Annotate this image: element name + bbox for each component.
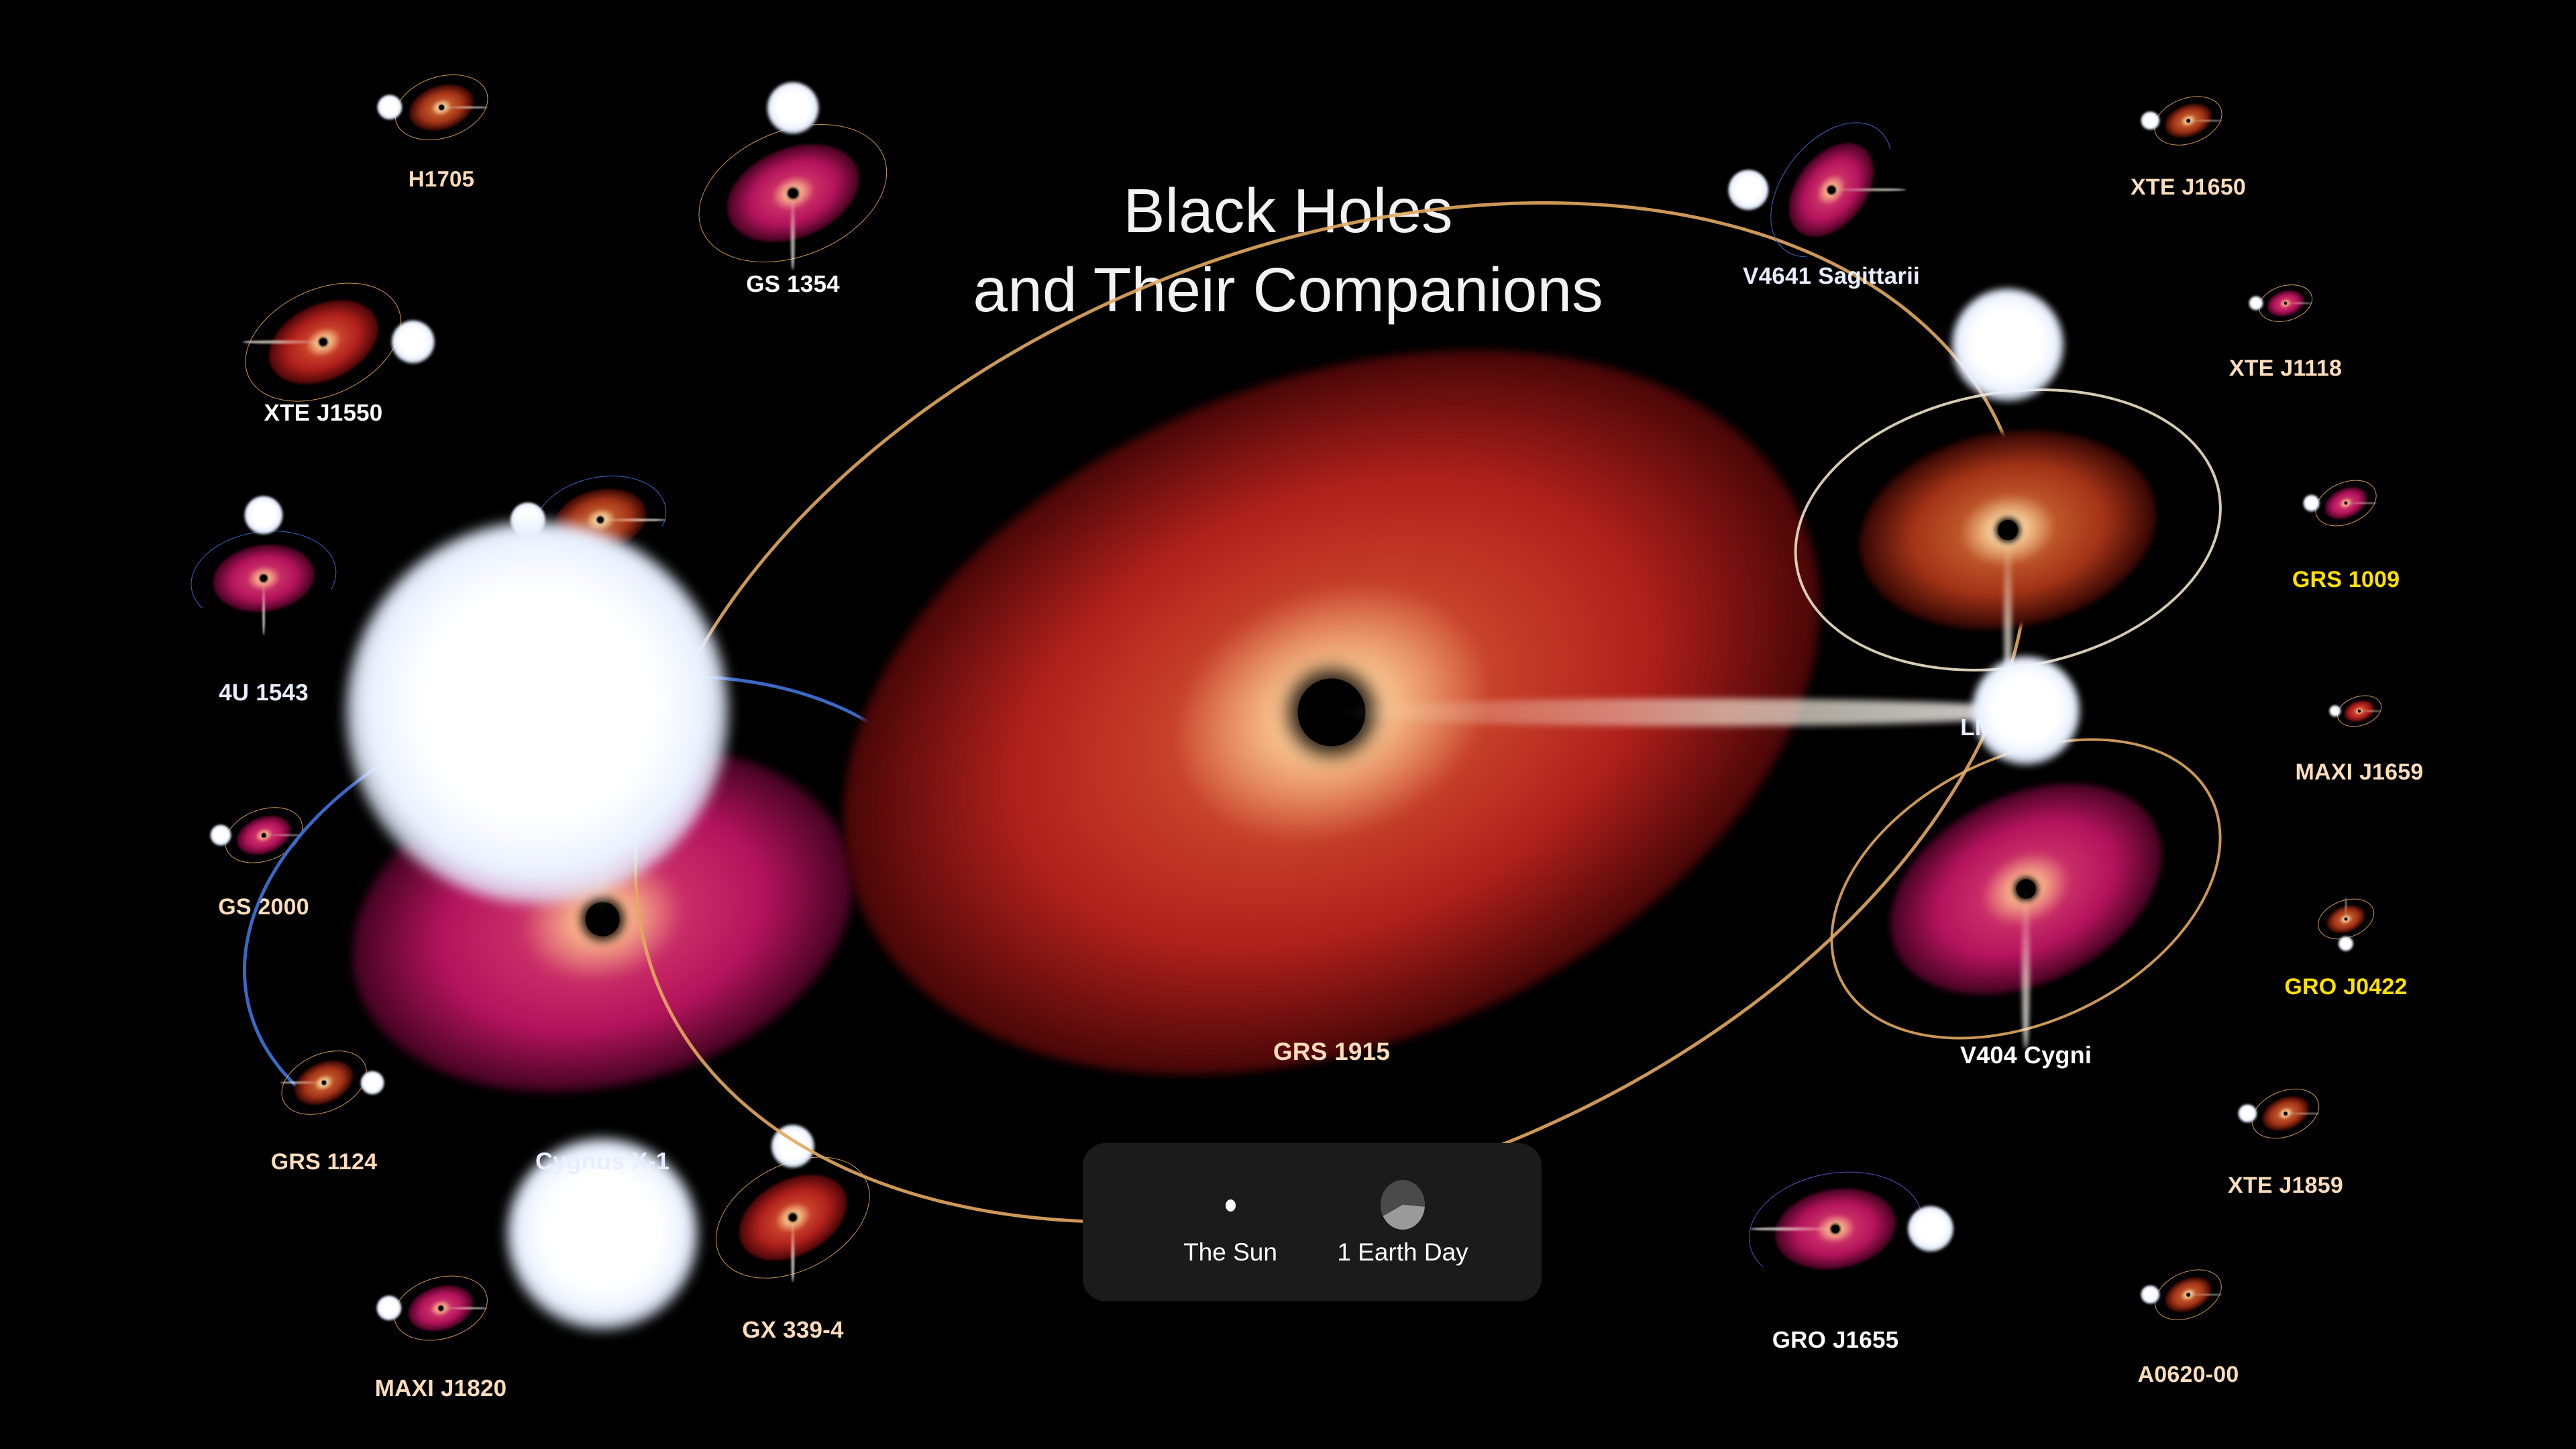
accretion-stream [2022, 889, 2030, 1049]
companion-star [2339, 936, 2353, 951]
system-label: XTE J1650 [2131, 174, 2246, 201]
legend-item-earth-day: 1 Earth Day [1329, 1143, 1477, 1301]
companion-star [767, 83, 819, 134]
system-label: GX 339-4 [742, 1317, 843, 1344]
legend-label-sun: The Sun [1163, 1238, 1297, 1267]
companion-star [392, 321, 435, 364]
accretion-stream [280, 1082, 324, 1084]
system-label: MAXI J1659 [2296, 759, 2424, 786]
accretion-stream [792, 1218, 795, 1282]
system-label: GRS 1124 [271, 1149, 378, 1175]
system-label: MAXI J1820 [375, 1375, 507, 1402]
system-label: A0620-00 [2138, 1362, 2239, 1388]
companion-star [1729, 170, 1769, 210]
companion-star [210, 825, 231, 846]
companion-star [244, 496, 282, 535]
companion-star [346, 521, 729, 904]
companion-star [1951, 289, 2063, 401]
system-label: V404 Cygni [1960, 1041, 2092, 1069]
companion-star [2249, 296, 2263, 310]
companion-star [1907, 1206, 1953, 1252]
system-label: GRO J0422 [2284, 974, 2407, 1000]
system-label: H1705 [409, 166, 474, 192]
system-label: XTE J1859 [2228, 1173, 2343, 1199]
accretion-stream [243, 341, 323, 344]
system-label: XTE J1118 [2229, 356, 2342, 382]
system-label: GS 1354 [746, 271, 840, 298]
accretion-stream [2188, 1294, 2222, 1295]
legend-item-the-sun: The Sun [1163, 1143, 1297, 1301]
system-label: GRS 1009 [2292, 567, 2400, 593]
accretion-stream [2286, 303, 2312, 304]
sun-dot-icon [1226, 1199, 1236, 1212]
companion-star [361, 1071, 384, 1095]
system-label: V4641 Sagittarii [1743, 263, 1920, 290]
accretion-stream [441, 1307, 487, 1309]
accretion-stream [1750, 1228, 1835, 1231]
accretion-stream [2345, 897, 2347, 919]
black-hole-diagram-canvas: Black Holes and Their Companions H1705GS… [0, 0, 2576, 1449]
accretion-stream [791, 193, 795, 270]
companion-star [2303, 495, 2320, 512]
legend-box: The Sun 1 Earth Day [1083, 1143, 1542, 1301]
accretion-stream [600, 519, 665, 521]
system-label: GRS 1915 [1273, 1038, 1390, 1066]
earth-day-pie-icon [1381, 1180, 1425, 1230]
system-label: GRO J1655 [1772, 1327, 1899, 1354]
accretion-stream [441, 107, 488, 109]
companion-star [1972, 657, 2080, 765]
system-label: XTE J1550 [264, 400, 383, 427]
legend-label-earth-day: 1 Earth Day [1329, 1238, 1477, 1267]
accretion-stream [2286, 1113, 2320, 1114]
system-label: 4U 1543 [219, 680, 309, 706]
system-label: Cygnus X-1 [535, 1147, 669, 1175]
accretion-stream [1332, 698, 2047, 726]
accretion-stream [2188, 120, 2222, 121]
accretion-stream [262, 578, 265, 635]
accretion-stream [2359, 710, 2381, 712]
accretion-stream [2346, 502, 2377, 504]
